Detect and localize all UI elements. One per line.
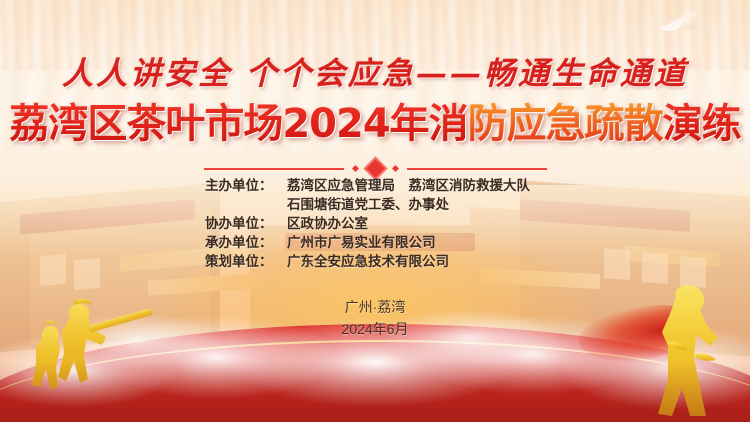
organizer-row: 主办单位： 荔湾区应急管理局 荔湾区消防救援大队 — [0, 176, 750, 195]
poster-main-title: 荔湾区茶叶市场2024年消防应急疏散演练 — [0, 104, 750, 144]
organizer-label: 承办单位： — [205, 233, 287, 252]
title-segment-accent: 防应急疏散 — [468, 101, 663, 147]
title-segment-tail: 演练 — [663, 101, 741, 147]
organizer-label: 协办单位： — [205, 214, 287, 233]
organizer-value: 区政协办公室 — [287, 214, 545, 233]
organizer-row: 协办单位： 区政协办公室 — [0, 214, 750, 233]
divider-dot-left — [351, 165, 358, 172]
footer-date: 2024年6月 — [0, 318, 750, 340]
organizer-value: 荔湾区应急管理局 荔湾区消防救援大队 — [287, 176, 545, 195]
organizer-value: 石围塘街道党工委、办事处 — [287, 195, 545, 214]
organizer-list: 主办单位： 荔湾区应急管理局 荔湾区消防救援大队 石围塘街道党工委、办事处 协办… — [0, 176, 750, 271]
organizer-label: 策划单位： — [205, 252, 287, 271]
poster-footer: 广州·荔湾 2024年6月 — [0, 296, 750, 340]
organizer-row: 承办单位： 广州市广易实业有限公司 — [0, 233, 750, 252]
organizer-label — [205, 195, 287, 214]
divider-line-left — [204, 168, 344, 170]
organizer-value: 广州市广易实业有限公司 — [287, 233, 545, 252]
title-segment-main: 荔湾区茶叶市场2024年消 — [9, 101, 467, 147]
organizer-row: 石围塘街道党工委、办事处 — [0, 195, 750, 214]
poster-canvas: 人人讲安全 个个会应急——畅通生命通道 荔湾区茶叶市场2024年消防应急疏散演练… — [0, 0, 750, 422]
divider — [0, 160, 750, 177]
organizer-value: 广东全安应急技术有限公司 — [287, 252, 545, 271]
divider-dot-right — [391, 165, 398, 172]
organizer-label: 主办单位： — [205, 176, 287, 195]
dove-icon — [655, 8, 707, 38]
divider-line-right — [407, 168, 547, 170]
band-bottom-shadow — [0, 362, 750, 422]
footer-location: 广州·荔湾 — [0, 296, 750, 318]
poster-subtitle: 人人讲安全 个个会应急——畅通生命通道 — [0, 48, 750, 93]
organizer-row: 策划单位： 广东全安应急技术有限公司 — [0, 252, 750, 271]
